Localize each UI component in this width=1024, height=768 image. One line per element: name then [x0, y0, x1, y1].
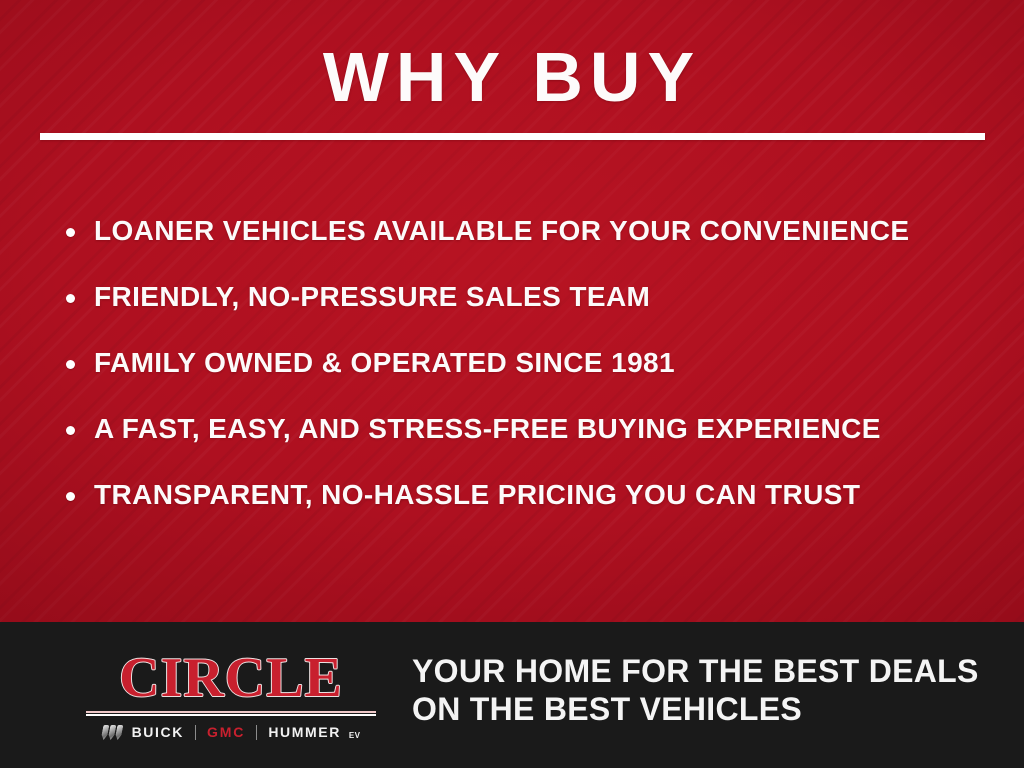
brand-label-buick: BUICK — [132, 725, 184, 739]
list-item: FAMILY OWNED & OPERATED SINCE 1981 — [66, 346, 996, 412]
list-item-label: FRIENDLY, NO-PRESSURE SALES TEAM — [94, 280, 996, 314]
dealer-logo-wordmark: CIRCLE — [86, 650, 376, 706]
brand-separator — [256, 725, 257, 740]
bullet-dot-icon — [66, 228, 75, 237]
list-item-label: A FAST, EASY, AND STRESS-FREE BUYING EXP… — [94, 412, 996, 446]
dealer-logo-divider — [86, 711, 376, 716]
brand-label-hummer: HUMMER — [268, 725, 341, 739]
page-title: WHY BUY — [0, 42, 1024, 112]
dealer-logo: CIRCLE BUICK GMC HUMMER EV — [86, 650, 376, 742]
list-item-label: TRANSPARENT, NO-HASSLE PRICING YOU CAN T… — [94, 478, 996, 512]
brand-separator — [195, 725, 196, 740]
dealer-logo-divider-top — [86, 711, 376, 713]
list-item-label: LOANER VEHICLES AVAILABLE FOR YOUR CONVE… — [94, 214, 996, 248]
list-item-label: FAMILY OWNED & OPERATED SINCE 1981 — [94, 346, 996, 380]
brand-label-hummer-ev: EV — [349, 731, 360, 740]
buick-tri-shield-icon — [102, 725, 122, 740]
footer-tagline-line-1: YOUR HOME FOR THE BEST DEALS — [412, 652, 1002, 690]
footer-tagline-line-2: ON THE BEST VEHICLES — [412, 690, 1002, 728]
dealer-logo-divider-bottom — [86, 714, 376, 716]
list-item: FRIENDLY, NO-PRESSURE SALES TEAM — [66, 280, 996, 346]
bullet-dot-icon — [66, 426, 75, 435]
buick-shield-1 — [100, 725, 109, 740]
list-item: A FAST, EASY, AND STRESS-FREE BUYING EXP… — [66, 412, 996, 478]
bullet-dot-icon — [66, 360, 75, 369]
bullet-dot-icon — [66, 492, 75, 501]
benefits-list: LOANER VEHICLES AVAILABLE FOR YOUR CONVE… — [66, 214, 996, 544]
list-item: TRANSPARENT, NO-HASSLE PRICING YOU CAN T… — [66, 478, 996, 544]
bullet-dot-icon — [66, 294, 75, 303]
brand-label-gmc: GMC — [207, 725, 245, 739]
title-divider — [40, 133, 985, 140]
why-buy-slide: WHY BUY LOANER VEHICLES AVAILABLE FOR YO… — [0, 0, 1024, 768]
footer-tagline: YOUR HOME FOR THE BEST DEALS ON THE BEST… — [412, 652, 1002, 728]
brand-row: BUICK GMC HUMMER EV — [86, 722, 376, 742]
list-item: LOANER VEHICLES AVAILABLE FOR YOUR CONVE… — [66, 214, 996, 280]
